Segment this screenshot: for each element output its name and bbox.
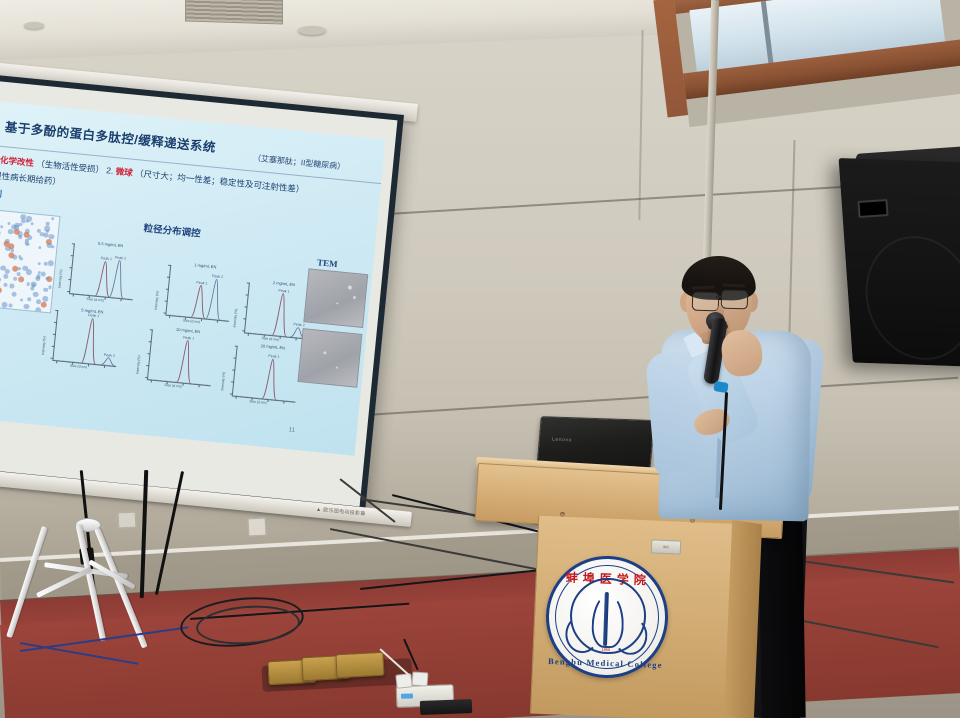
molecule-node bbox=[4, 269, 10, 275]
molecule-node bbox=[7, 222, 10, 225]
distribution-peak bbox=[95, 261, 112, 297]
distribution-panel: 1 mg/mL ENSize (d.nm)Intensity (%)Peak 1… bbox=[148, 257, 240, 331]
emblem-year: 1958 bbox=[601, 647, 610, 652]
screen-brand-label: ▲欧乐图电动投影幕 bbox=[316, 506, 366, 518]
molecule-node bbox=[41, 271, 46, 276]
power-strip-secondary[interactable] bbox=[420, 699, 472, 715]
wall-socket[interactable] bbox=[248, 518, 267, 537]
pa-speaker-handle bbox=[857, 199, 888, 218]
molecule-node bbox=[17, 272, 21, 276]
slide-bullet-3: 用机制 bbox=[0, 186, 2, 200]
molecule-node bbox=[48, 234, 54, 240]
molecule-node bbox=[13, 277, 17, 281]
molecule-node bbox=[37, 228, 41, 232]
panel-x-label: Size (d.nm) bbox=[86, 297, 104, 303]
axis-tick bbox=[120, 298, 121, 301]
presenter-trousers-leg bbox=[758, 520, 805, 718]
bullet-2-number: 2. bbox=[106, 165, 114, 176]
distribution-peak bbox=[109, 260, 127, 299]
axis-tick bbox=[183, 383, 184, 386]
axis-tick bbox=[295, 337, 296, 340]
distribution-panel: 20 mg/mL ENSize (d.nm)Intensity (%)Peak … bbox=[215, 338, 307, 412]
molecule-node bbox=[11, 291, 16, 296]
molecule-node bbox=[0, 286, 2, 293]
panel-curve bbox=[69, 243, 138, 299]
panel-x-label: Size (d.nm) bbox=[70, 364, 88, 370]
bullet-2-rest: （尺寸大；均一性差；稳定性及可注射性差） bbox=[135, 168, 305, 195]
wall-socket[interactable] bbox=[118, 512, 137, 529]
molecule-node bbox=[48, 260, 54, 266]
panel-y-label: Intensity (%) bbox=[135, 355, 141, 374]
panel-curve bbox=[232, 346, 301, 402]
presentation-photo-scene: 基于多酚的蛋白多肽控/缓释递送系统 （艾塞那肽；II型糖尿病） 性 1. 化学改… bbox=[0, 0, 960, 718]
panel-x-label: Size (d.nm) bbox=[249, 399, 267, 405]
glasses-lens-left-icon bbox=[692, 292, 720, 312]
axis-tick bbox=[73, 294, 74, 297]
molecule-node bbox=[3, 274, 9, 280]
axis-tick bbox=[104, 365, 105, 368]
molecule-node bbox=[46, 276, 50, 280]
axis-tick bbox=[248, 333, 249, 336]
tem-image-top bbox=[303, 268, 368, 328]
podium-nameplate: 讲台 bbox=[651, 539, 682, 554]
axis-tick bbox=[169, 315, 170, 318]
molecule-node bbox=[0, 231, 1, 235]
brand-mark-icon: ▲ bbox=[316, 507, 322, 513]
molecule-node bbox=[10, 284, 15, 289]
molecule-node bbox=[23, 303, 29, 309]
molecule-node bbox=[51, 217, 54, 220]
molecule-node bbox=[22, 265, 28, 271]
panel-y-label: Intensity (%) bbox=[41, 336, 47, 355]
glasses-lens-right-icon bbox=[721, 290, 749, 310]
glasses-bridge-icon bbox=[716, 296, 722, 298]
molecule-node bbox=[19, 223, 22, 226]
axis-tick bbox=[283, 401, 284, 404]
molecule-node bbox=[30, 222, 33, 225]
panel-curve bbox=[165, 265, 234, 321]
molecule-node bbox=[27, 297, 31, 301]
ceiling-air-vent bbox=[185, 0, 283, 25]
axis-tick bbox=[56, 360, 57, 363]
panel-y-label: Intensity (%) bbox=[57, 269, 63, 288]
axis-tick bbox=[198, 384, 199, 387]
slide-center-label: 粒径分布调控 bbox=[143, 220, 201, 239]
panel-y-label: Intensity (%) bbox=[154, 291, 160, 310]
axis-tick bbox=[151, 380, 152, 383]
laptop-brand-label: Lenovo bbox=[552, 437, 572, 444]
power-led-icon bbox=[401, 693, 413, 698]
molecule-node bbox=[20, 298, 24, 302]
molecule-node bbox=[0, 225, 3, 228]
axis-tick bbox=[280, 336, 281, 339]
axis-tick bbox=[88, 363, 89, 366]
molecule-node bbox=[4, 283, 8, 287]
panel-x-label: Size (d.nm) bbox=[261, 336, 279, 342]
axis-tick bbox=[267, 399, 268, 402]
molecule-node bbox=[25, 220, 29, 224]
podium-screw bbox=[560, 512, 565, 517]
molecule-node bbox=[25, 241, 29, 245]
axis-tick bbox=[105, 297, 106, 300]
plug bbox=[395, 673, 412, 689]
bullet-1-highlight: 化学改性 bbox=[0, 155, 34, 168]
panel-curve bbox=[52, 310, 121, 366]
panel-y-label: Intensity (%) bbox=[232, 309, 238, 328]
distribution-panel: 10 mg/mL ENSize (d.nm)Intensity (%)Peak … bbox=[130, 322, 222, 396]
projection-screen: 基于多酚的蛋白多肽控/缓释递送系统 （艾塞那肽；II型糖尿病） 性 1. 化学改… bbox=[0, 74, 404, 513]
distribution-peak bbox=[191, 285, 208, 319]
tem-image-bottom bbox=[297, 328, 362, 388]
distribution-panel: 5 mg/mL ENSize (d.nm)Intensity (%)Peak 1… bbox=[36, 303, 128, 377]
cable-cover bbox=[335, 652, 384, 678]
distribution-peak bbox=[81, 318, 99, 364]
plug bbox=[412, 671, 429, 686]
projected-slide: 基于多酚的蛋白多肽控/缓释递送系统 （艾塞那肽；II型糖尿病） 性 1. 化学改… bbox=[0, 101, 386, 455]
brand-text: 欧乐图电动投影幕 bbox=[323, 507, 366, 517]
bullet-1-rest: （生物活性受损） bbox=[36, 158, 105, 175]
molecule-node bbox=[38, 246, 42, 250]
molecule-node bbox=[0, 277, 1, 282]
molecule-node bbox=[35, 276, 40, 281]
molecule-node bbox=[18, 235, 23, 240]
panel-y-label: Intensity (%) bbox=[220, 372, 226, 391]
axis-tick bbox=[235, 396, 236, 399]
panel-x-label: Size (d.nm) bbox=[164, 383, 182, 389]
molecule-node bbox=[1, 302, 7, 308]
bullet-2-highlight: 微球 bbox=[115, 166, 133, 178]
molecule-node bbox=[18, 276, 25, 283]
molecule-node bbox=[32, 292, 38, 298]
molecule-node bbox=[31, 281, 37, 287]
distribution-peak bbox=[206, 279, 224, 320]
ceiling-fixture-icon bbox=[24, 22, 44, 29]
distribution-peak bbox=[262, 359, 280, 400]
molecule-node bbox=[8, 229, 14, 235]
panel-x-label: Size (d.nm) bbox=[183, 318, 201, 324]
slide-title-note: （艾塞那肽；II型糖尿病） bbox=[253, 152, 346, 172]
panel-curve bbox=[147, 329, 216, 385]
distribution-peak bbox=[177, 340, 195, 384]
slide-tem-label: TEM bbox=[317, 257, 338, 269]
slide-page-number: 11 bbox=[288, 427, 295, 434]
college-emblem: 蚌埠医学院 1958 Bengbu Medical College bbox=[544, 554, 670, 680]
ceiling-fixture-icon bbox=[298, 26, 326, 35]
molecule-node bbox=[38, 262, 42, 266]
molecule-node bbox=[26, 282, 30, 286]
axis-tick bbox=[217, 320, 218, 323]
molecule-node bbox=[46, 230, 49, 233]
molecule-node bbox=[9, 303, 13, 307]
molecule-node bbox=[48, 286, 52, 290]
axis-tick bbox=[201, 318, 202, 321]
figure-legend-text bbox=[0, 311, 9, 321]
distribution-peak bbox=[272, 293, 290, 337]
distribution-panel: 0.5 mg/mL ENSize (d.nm)Intensity (%)Peak… bbox=[52, 236, 144, 310]
